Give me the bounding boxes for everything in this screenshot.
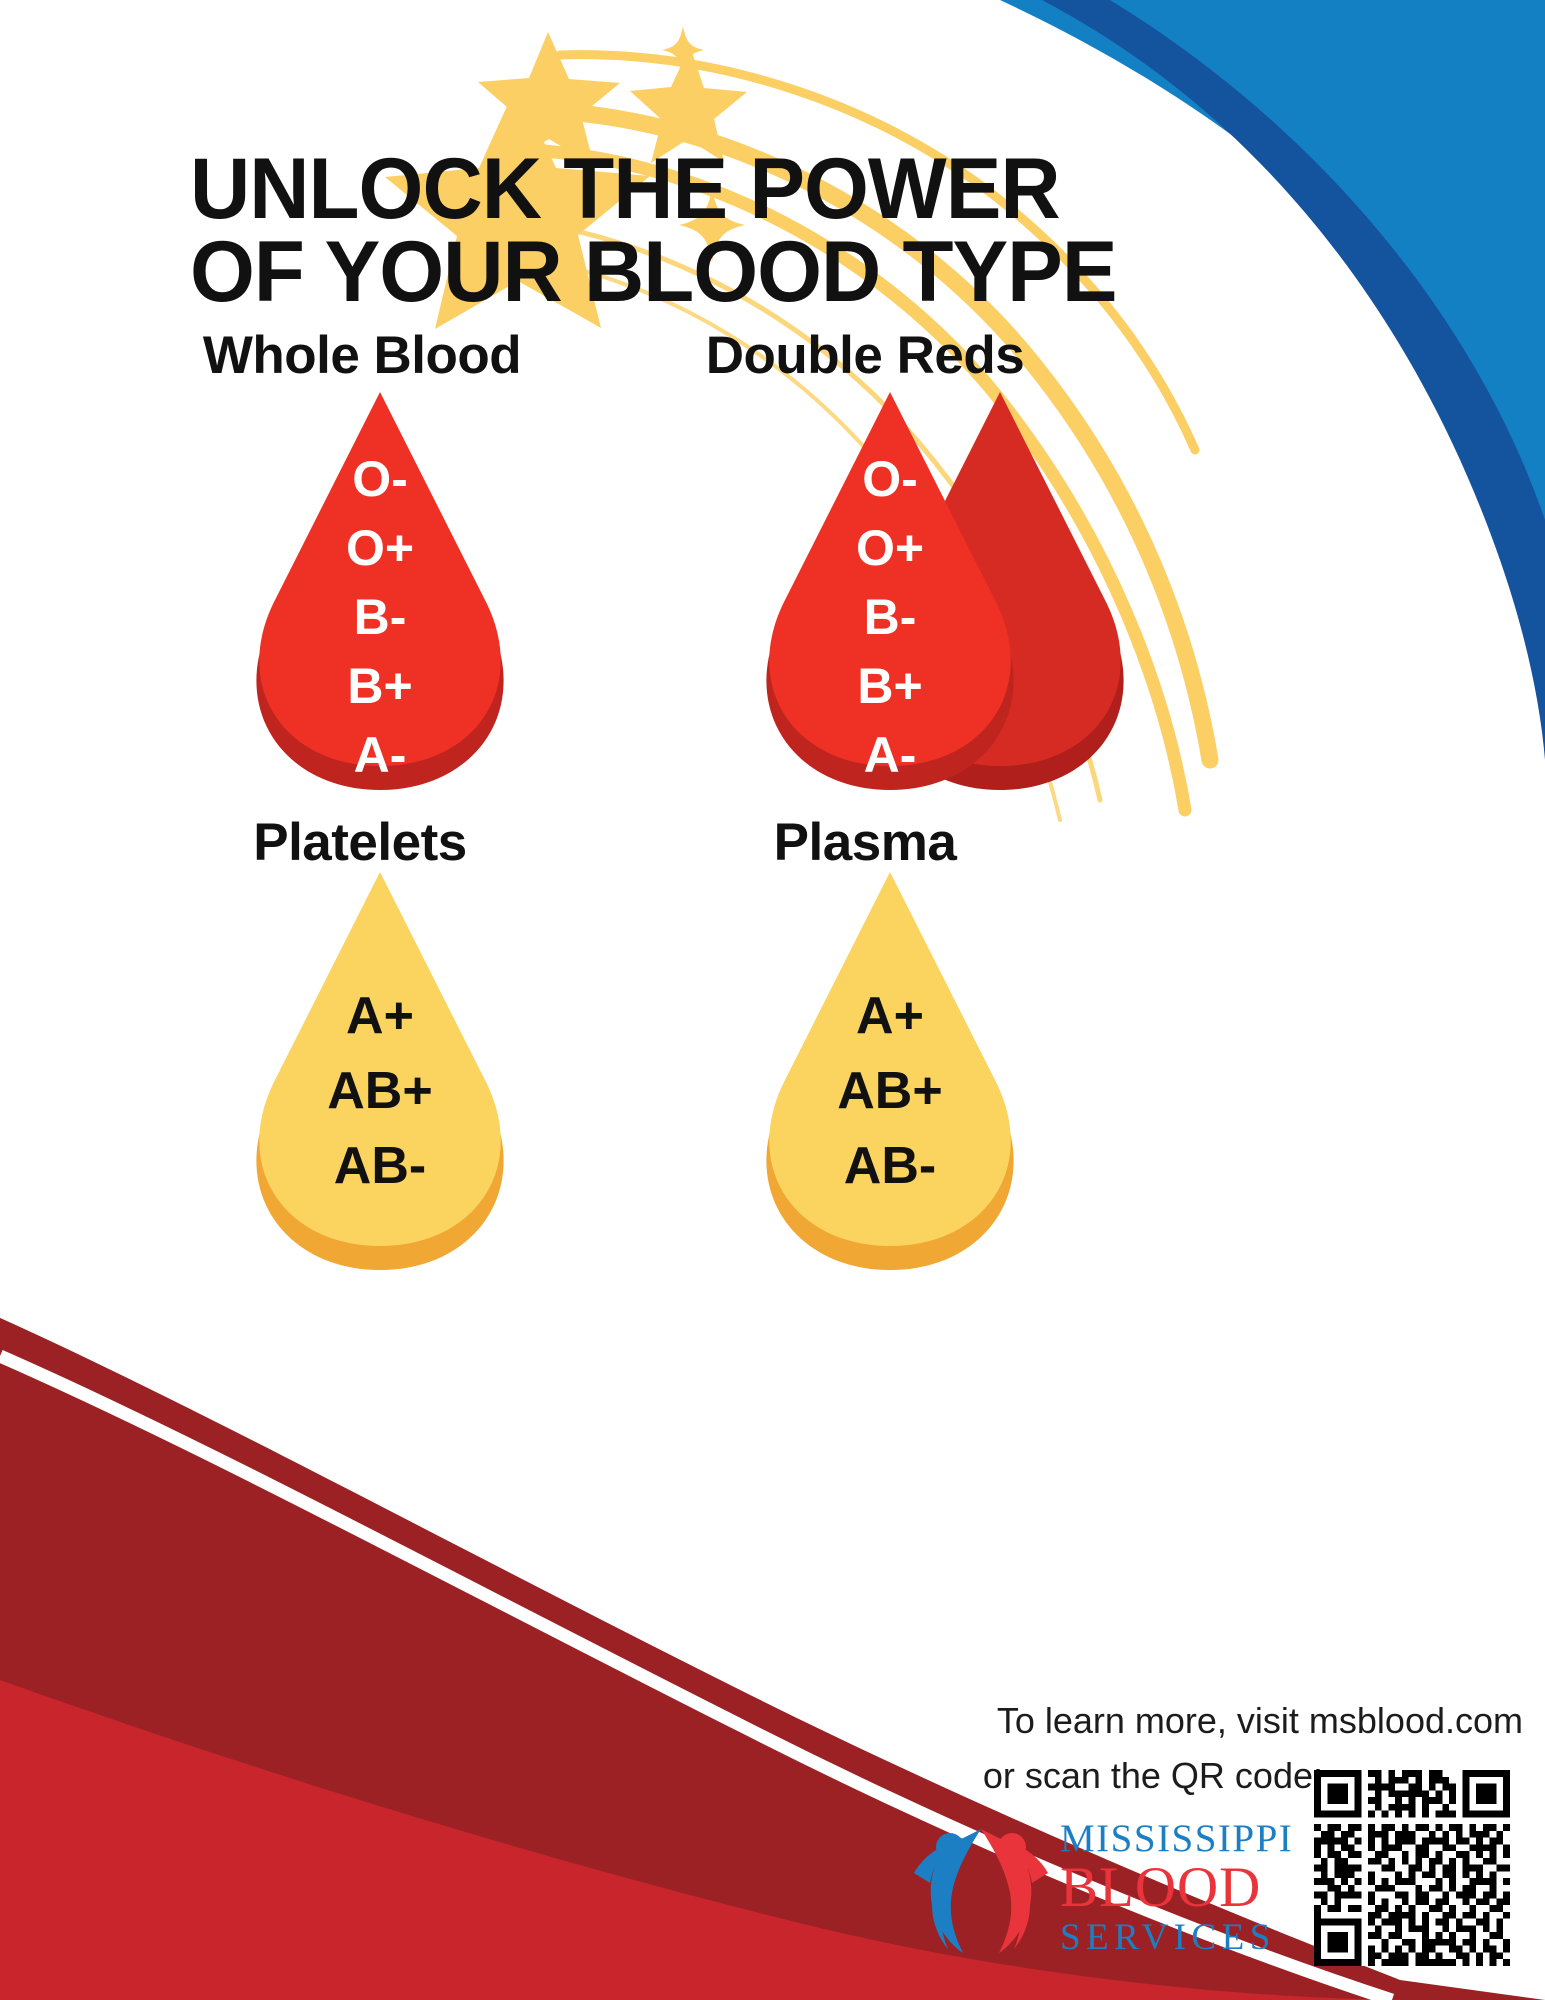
blood-drop-shape <box>235 392 525 790</box>
footer-line-2: or scan the QR code: <box>983 1755 1323 1797</box>
qr-code[interactable] <box>1314 1770 1510 1966</box>
platelets-drop-shape <box>235 872 525 1270</box>
blue-arc-outer <box>1408 560 1545 1140</box>
plasma-drop-shape <box>745 872 1035 1270</box>
logo-people-drop-icon <box>908 1821 1058 1961</box>
double-blood-drop-shape <box>745 392 1145 790</box>
mississippi-blood-services-logo[interactable]: MISSISSIPPI BLOOD SERVICES <box>908 1815 1328 1965</box>
whole-blood-drop: O- O+ B- B+ A- <box>235 392 525 790</box>
drop-body-shape <box>769 872 1011 1246</box>
blue-swoosh-light-2 <box>1230 0 1545 560</box>
logo-word-services: SERVICES <box>1060 1919 1276 1956</box>
title-line-2: OF YOUR BLOOD TYPE <box>190 231 1160 314</box>
section-label-plasma: Plasma <box>700 812 1030 873</box>
logo-word-blood: BLOOD <box>1060 1859 1261 1916</box>
logo-word-mississippi: MISSISSIPPI <box>1060 1819 1293 1858</box>
platelets-drop: A+ AB+ AB- <box>235 872 525 1270</box>
section-label-platelets: Platelets <box>192 812 528 873</box>
plasma-drop: A+ AB+ AB- <box>745 872 1035 1270</box>
double-reds-drop: O- O+ B- B+ A- <box>745 392 1145 790</box>
poster-title: UNLOCK THE POWER OF YOUR BLOOD TYPE <box>190 148 1190 315</box>
footer-line-1: To learn more, visit msblood.com <box>997 1700 1523 1742</box>
qr-code-icon <box>1314 1770 1510 1966</box>
section-label-double-reds: Double Reds <box>700 325 1030 386</box>
drop-body-shape <box>259 392 501 766</box>
gold-sparkle-2 <box>662 26 704 74</box>
section-label-whole-blood: Whole Blood <box>196 325 528 386</box>
poster-canvas: UNLOCK THE POWER OF YOUR BLOOD TYPE Whol… <box>0 0 1545 2000</box>
title-line-1: UNLOCK THE POWER <box>190 148 1160 231</box>
drop-body-shape <box>259 872 501 1246</box>
logo-wordmark: MISSISSIPPI BLOOD SERVICES <box>1060 1817 1328 1963</box>
